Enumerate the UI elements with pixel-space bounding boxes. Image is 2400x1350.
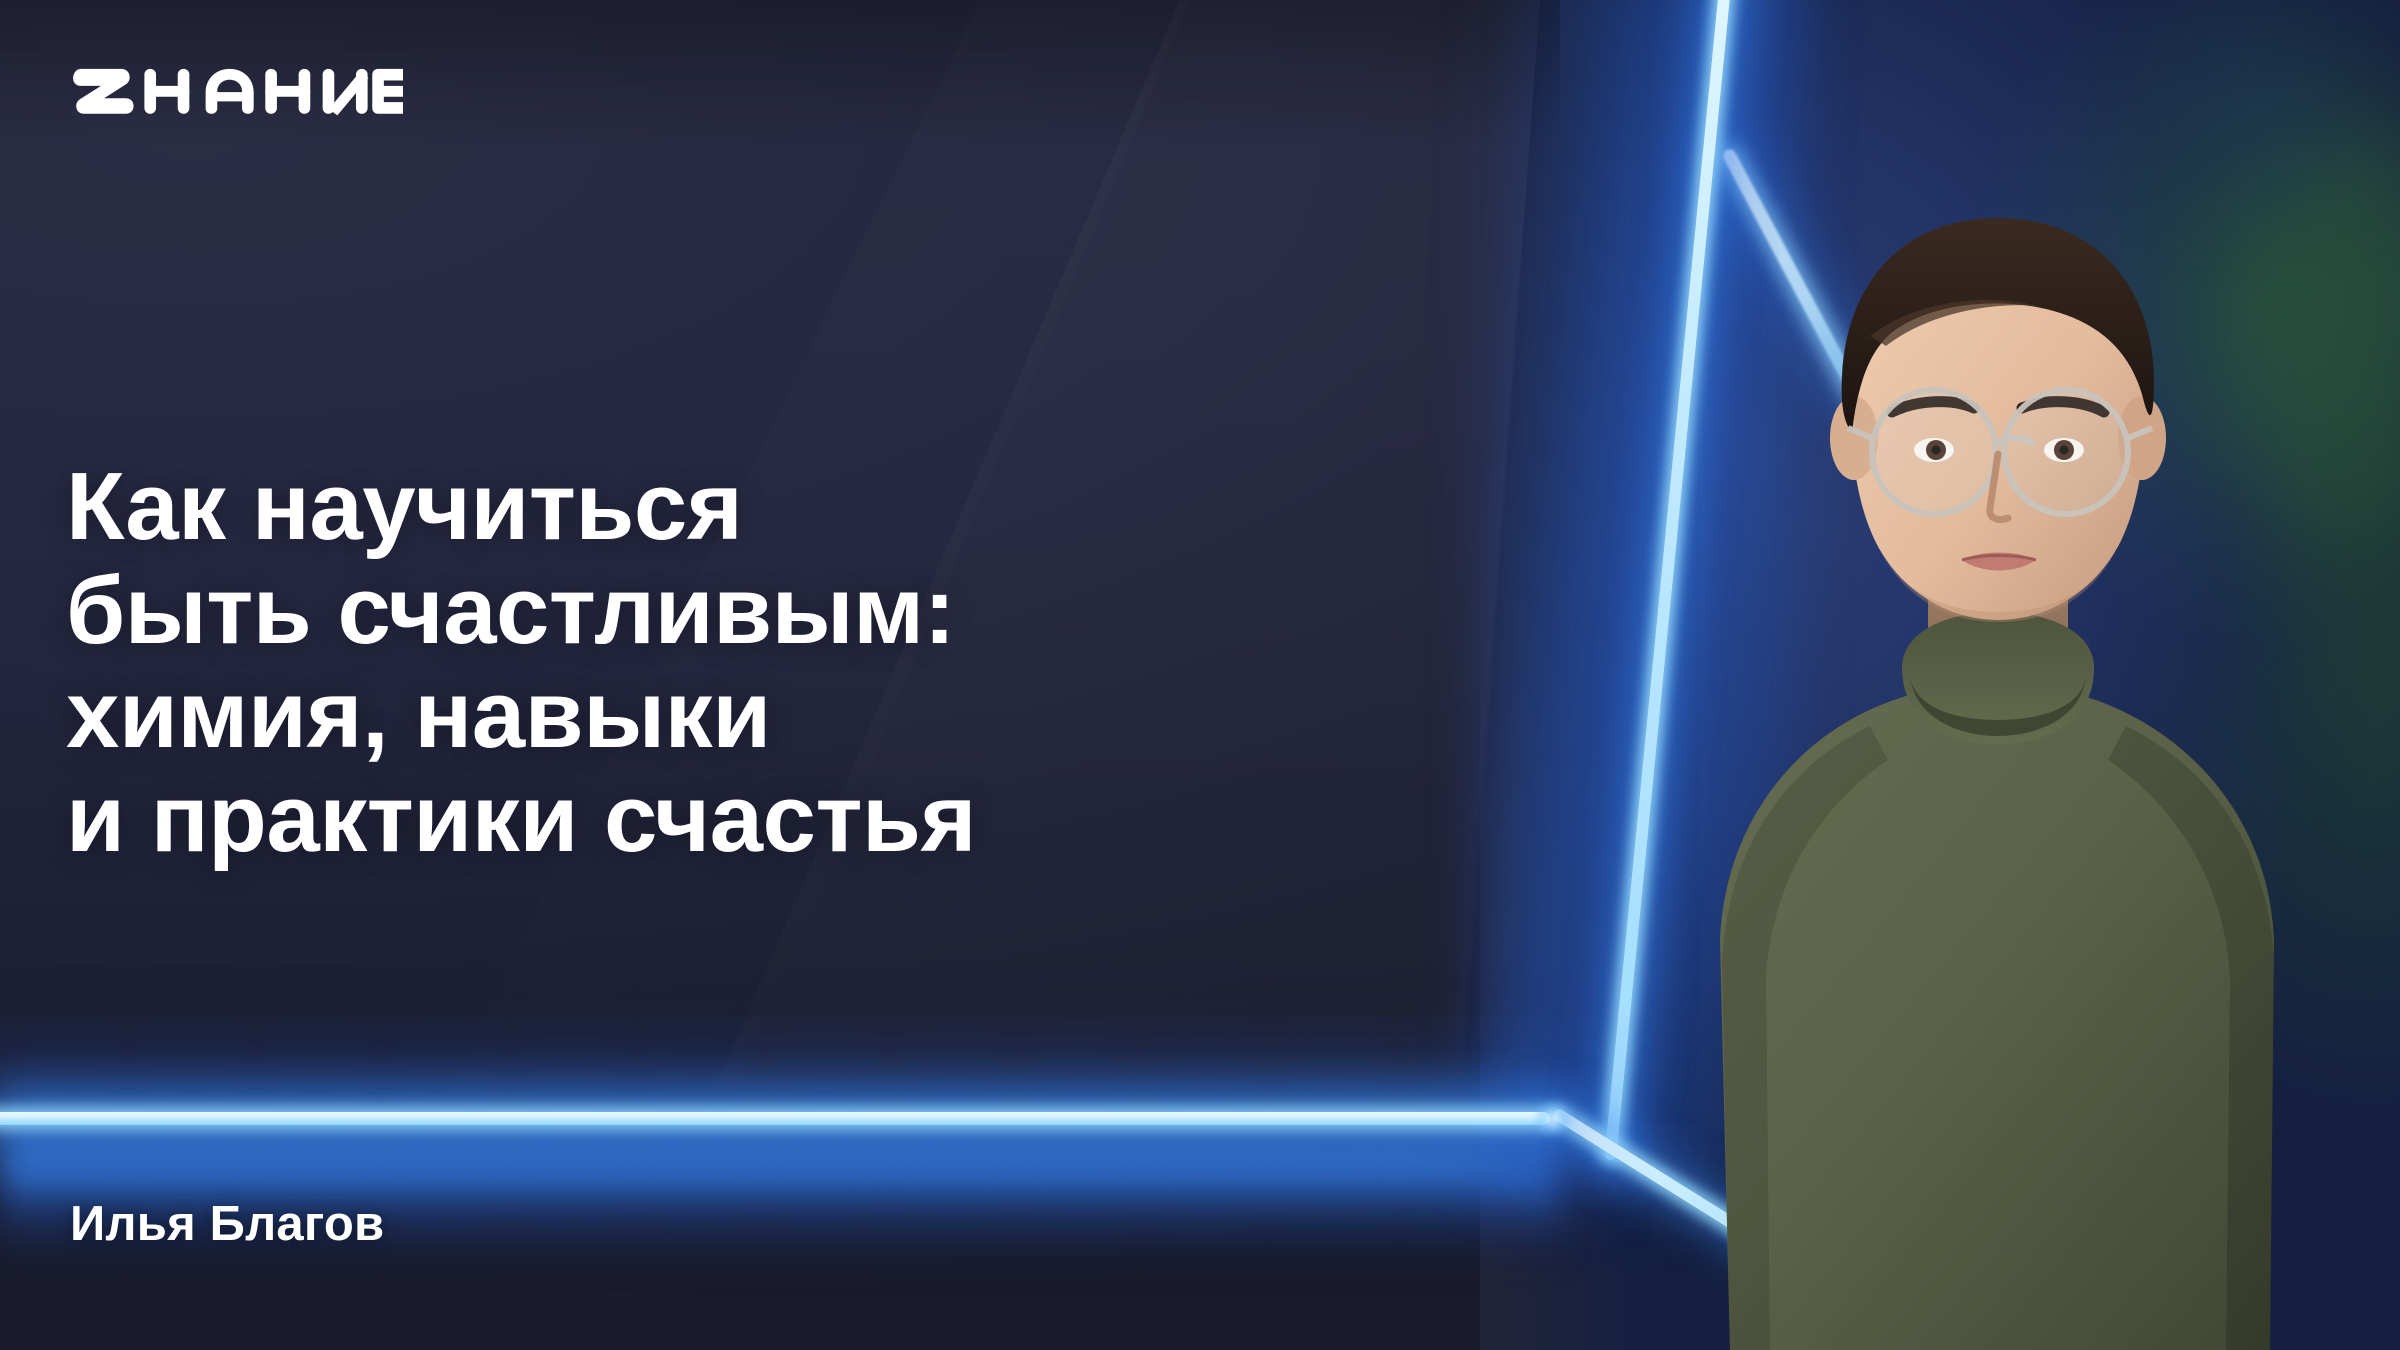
znanie-logo[interactable] — [70, 55, 403, 123]
speaker-portrait-illustration — [1570, 120, 2400, 1350]
neon-junction-highlight — [1534, 1100, 1572, 1138]
neon-line-horizontal — [0, 1112, 1550, 1125]
lecture-cover-slide: Как научиться быть счастливым: химия, на… — [0, 0, 2400, 1350]
znanie-logo-wordmark — [70, 58, 403, 120]
speaker-name: Илья Благов — [70, 1196, 384, 1252]
speaker-portrait — [1570, 120, 2400, 1350]
title-line-4: и практики счастья — [66, 767, 1366, 871]
page-title: Как научиться быть счастливым: химия, на… — [66, 455, 1366, 872]
title-line-1: Как научиться — [66, 455, 1366, 559]
title-line-3: химия, навыки — [66, 663, 1366, 767]
title-line-2: быть счастливым: — [66, 559, 1366, 663]
